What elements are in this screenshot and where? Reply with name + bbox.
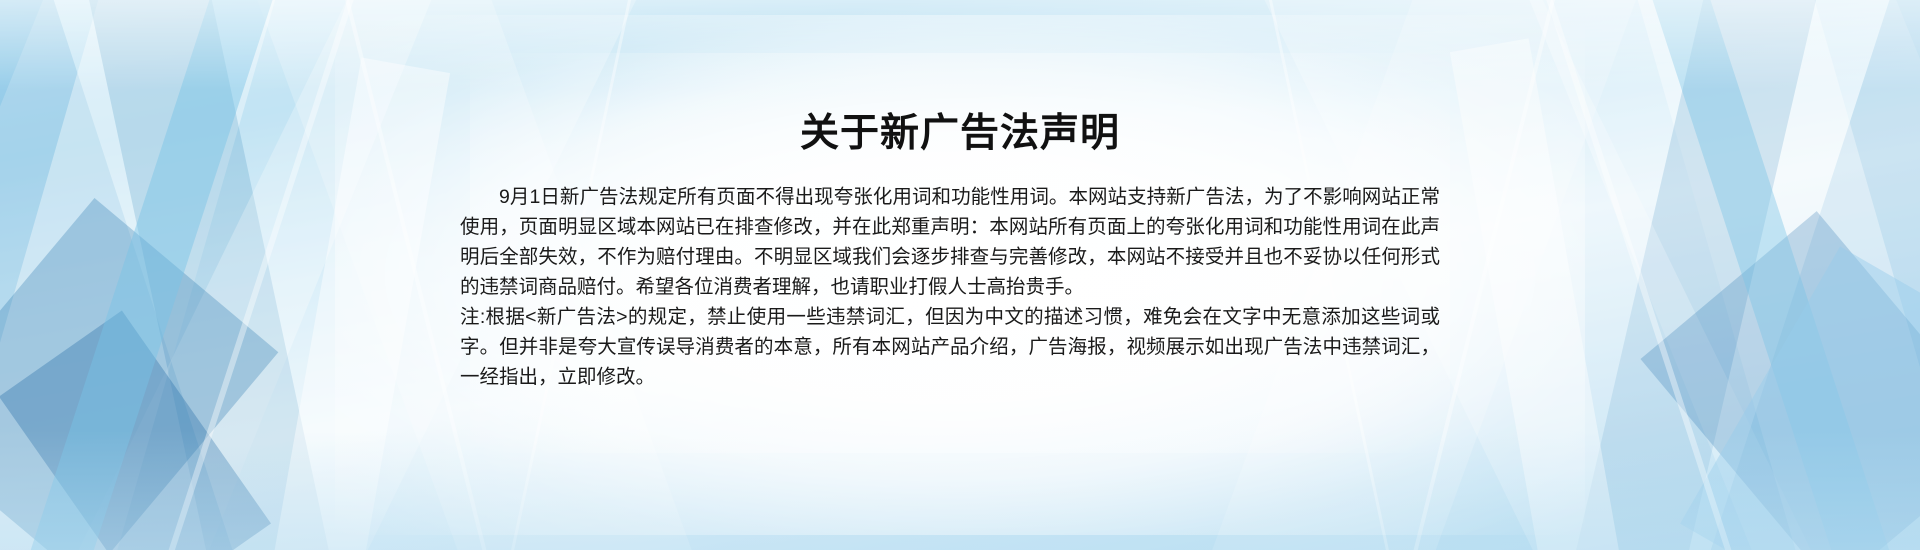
announcement-paragraph-1: 9月1日新广告法规定所有页面不得出现夸张化用词和功能性用词。本网站支持新广告法，… — [460, 182, 1440, 302]
announcement-body: 9月1日新广告法规定所有页面不得出现夸张化用词和功能性用词。本网站支持新广告法，… — [460, 182, 1440, 392]
announcement-paragraph-2: 注:根据<新广告法>的规定，禁止使用一些违禁词汇，但因为中文的描述习惯，难免会在… — [460, 302, 1440, 392]
announcement-content: 关于新广告法声明 9月1日新广告法规定所有页面不得出现夸张化用词和功能性用词。本… — [0, 0, 1920, 550]
announcement-banner: 关于新广告法声明 9月1日新广告法规定所有页面不得出现夸张化用词和功能性用词。本… — [0, 0, 1920, 550]
page-title: 关于新广告法声明 — [0, 114, 1920, 153]
